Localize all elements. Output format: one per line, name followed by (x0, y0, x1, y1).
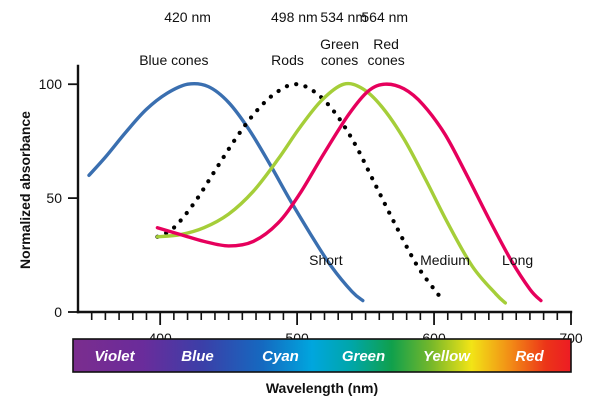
curve-class-label: Short (309, 252, 343, 268)
spectrum-band-label: Yellow (423, 348, 471, 365)
y-tick-label: 50 (46, 190, 62, 206)
curve-name-label: Green (320, 36, 359, 52)
curve-green-cones (157, 84, 505, 303)
spectrum-bar: VioletBlueCyanGreenYellowRed (73, 339, 571, 372)
curve-name-label: cones (367, 52, 404, 68)
curve-blue-cones (89, 84, 363, 301)
y-tick-label: 0 (54, 304, 62, 320)
plot-area: 050100 400500600700 420 nm498 nm534 nm56… (39, 9, 583, 346)
curve-class-label-group: ShortMediumLong (309, 252, 533, 268)
curve-class-label: Medium (420, 252, 470, 268)
y-axis-title: Normalized absorbance (17, 111, 33, 269)
curve-name-label: Blue cones (139, 52, 208, 68)
y-tick-label-group: 050100 (39, 76, 63, 320)
peak-label: 420 nm (164, 9, 211, 25)
spectrum-band-label: Blue (181, 348, 214, 365)
peak-annotation-group: 420 nm498 nm534 nm564 nm (164, 9, 408, 25)
spectrum-band-label: Green (342, 348, 385, 365)
spectrum-band-label: Violet (94, 348, 135, 365)
y-tick-label: 100 (39, 76, 63, 92)
x-axis-title: Wavelength (nm) (266, 380, 378, 396)
curve-name-label: Rods (271, 52, 304, 68)
peak-label: 498 nm (271, 9, 318, 25)
spectrum-bar-rect (73, 339, 571, 372)
curve-group (89, 84, 541, 303)
spectrum-band-label: Cyan (262, 348, 299, 365)
peak-label: 534 nm (320, 9, 367, 25)
curve-red-cones (157, 84, 541, 300)
curve-name-label: Red (373, 36, 399, 52)
curve-name-label: cones (321, 52, 358, 68)
spectrum-band-label: Red (515, 348, 544, 365)
peak-label: 564 nm (361, 9, 408, 25)
curve-name-label-group: Blue conesRodsGreenconesRedcones (139, 36, 405, 68)
absorbance-spectra-chart: 050100 400500600700 420 nm498 nm534 nm56… (0, 0, 600, 408)
x-tick-group (92, 312, 571, 325)
curve-class-label: Long (502, 252, 533, 268)
y-tick-group (68, 84, 78, 312)
